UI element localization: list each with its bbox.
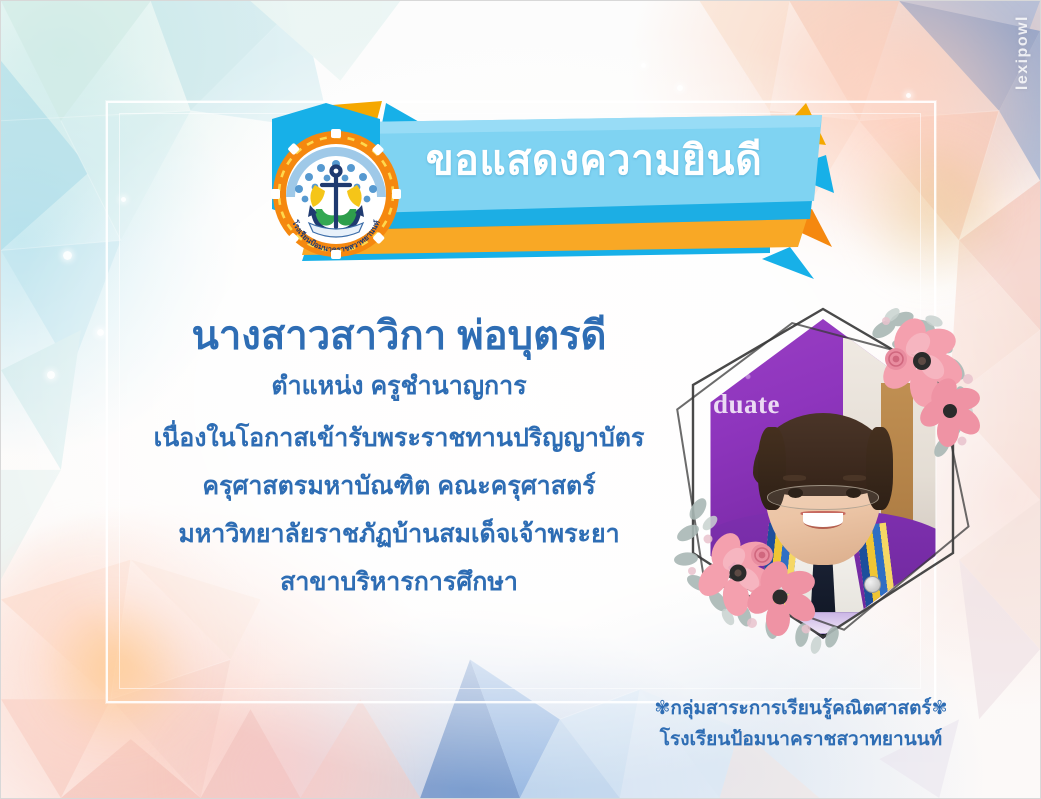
footer-school: โรงเรียนป้อมนาคราชสวาทยานนท์ xyxy=(601,730,1001,749)
watermark: lexipowl xyxy=(1014,15,1032,90)
body-line-degree: ครุศาสตรมหาบัณฑิต คณะครุศาสตร์ xyxy=(119,474,679,499)
certificate-body: นางสาวสาวิกา พ่อบุตรดี ตำแหน่ง ครูชำนาญก… xyxy=(119,313,679,595)
certificate-footer: ✾กลุ่มสาระการเรียนรู้คณิตศาสตร์✾ โรงเรีย… xyxy=(601,699,1001,749)
body-line-university: มหาวิทยาลัยราชภัฏบ้านสมเด็จเจ้าพระยา xyxy=(119,522,679,547)
school-logo: โรงเรียนป้อมนาคราชสวาทยานนท์ xyxy=(269,127,403,261)
footer-department: ✾กลุ่มสาระการเรียนรู้คณิตศาสตร์✾ xyxy=(601,699,1001,718)
graduate-photo-frame: duate xyxy=(656,301,991,661)
body-line-major: สาขาบริหารการศึกษา xyxy=(119,570,679,595)
congratulation-banner: โรงเรียนป้อมนาคราชสวาทยานนท์ ขอแสดงความย… xyxy=(214,97,834,297)
banner-headline: ขอแสดงความยินดี xyxy=(419,139,769,182)
body-line-occasion: เนื่องในโอกาสเข้ารับพระราชทานปริญญาบัตร xyxy=(119,426,679,451)
recipient-position: ตำแหน่ง ครูชำนาญการ xyxy=(119,374,679,399)
recipient-name: นางสาวสาวิกา พ่อบุตรดี xyxy=(119,313,679,360)
certificate-canvas: โรงเรียนป้อมนาคราชสวาทยานนท์ ขอแสดงความย… xyxy=(0,0,1041,799)
hexagon-outline xyxy=(656,301,991,661)
